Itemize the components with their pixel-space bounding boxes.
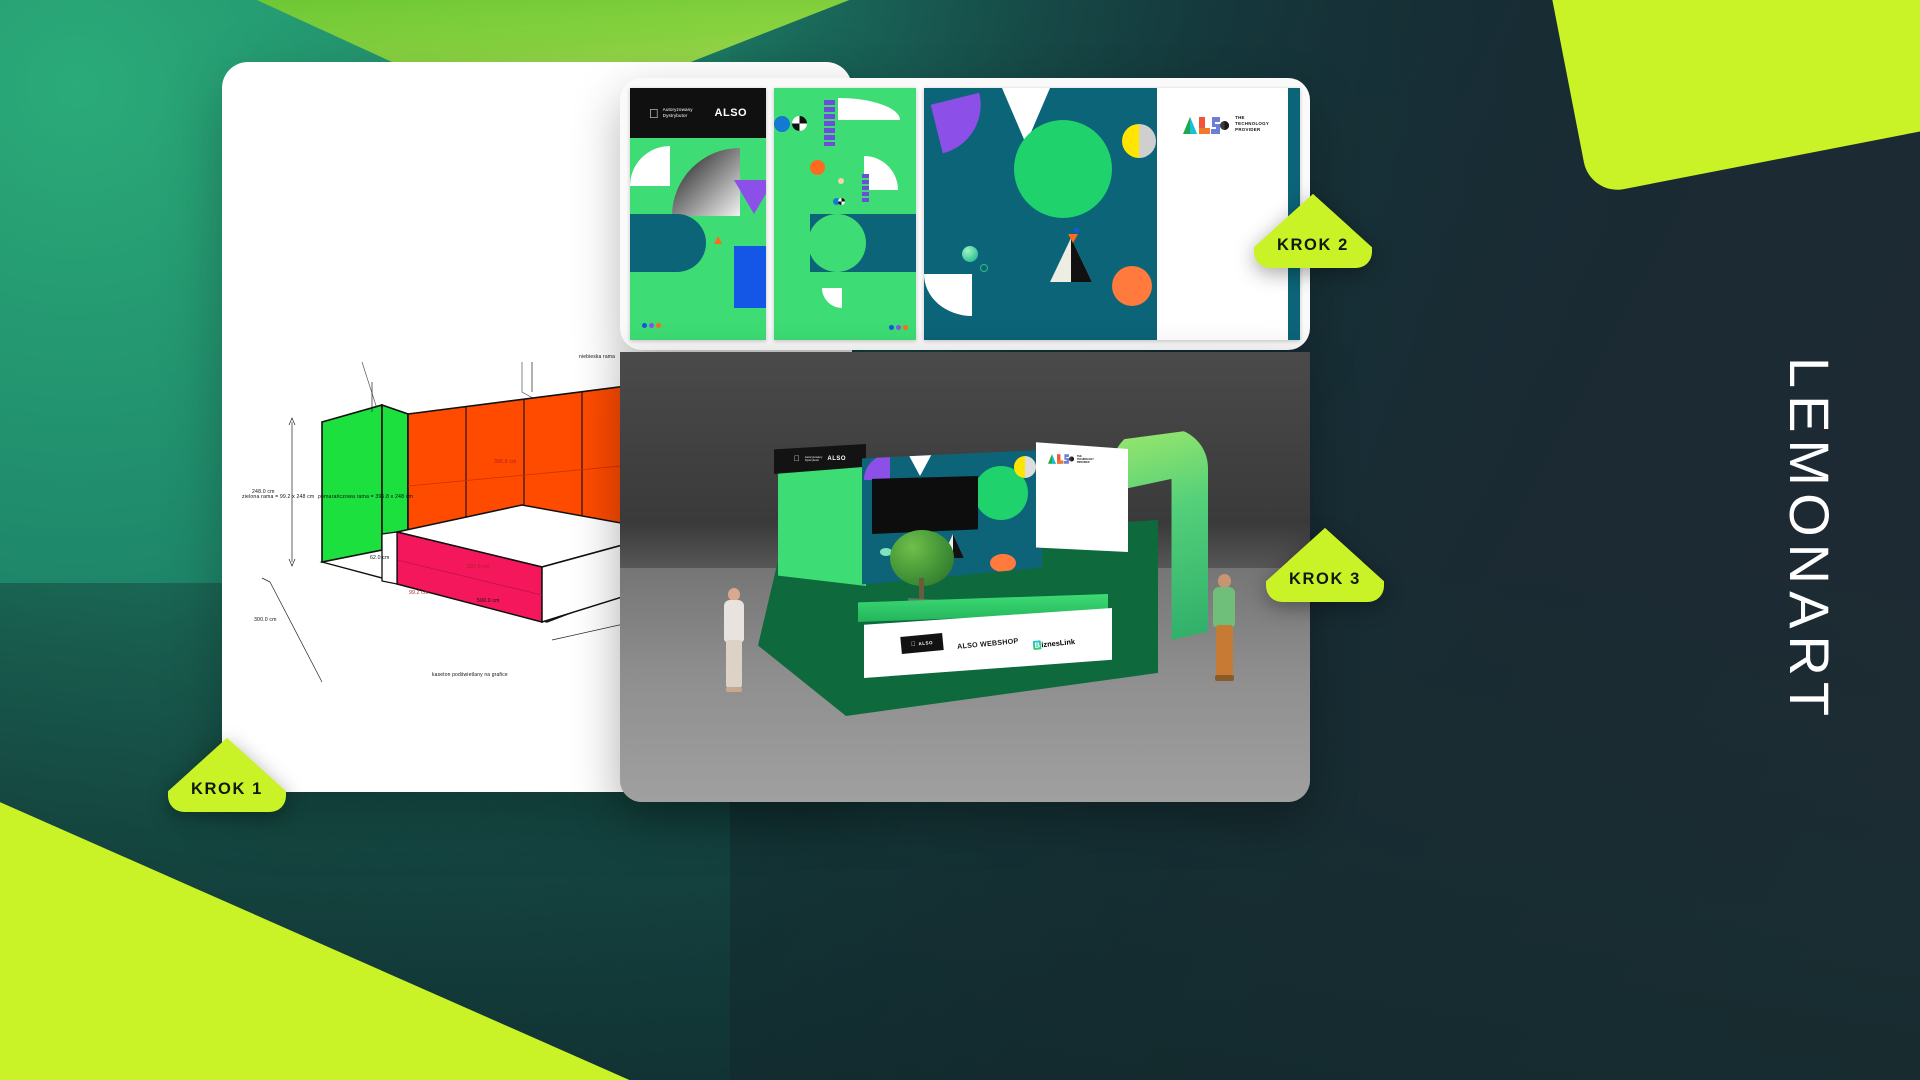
panel3-ring (980, 264, 988, 272)
panel3-purple-arc (931, 93, 992, 154)
panel3-teal-side (924, 88, 1157, 340)
panel1-white-quarter (630, 146, 670, 186)
exhibition-booth:  Autoryzowany Dystrybutor ALSO (740, 412, 1200, 732)
dimension-counter-height: 62.0 cm (370, 555, 390, 561)
person-right-feet (1215, 675, 1234, 681)
booth-also-logo: ALSO (827, 456, 846, 462)
panel2-purple-bars (824, 100, 835, 146)
badge-krok-3[interactable]: KROK 3 (1266, 528, 1384, 602)
booth-apple-text: Autoryzowany Dystrybutor (805, 456, 823, 463)
booth-wall-tagline: THE TECHNOLOGY PROVIDER (1077, 455, 1094, 464)
panel3-tagline-line2: TECHNOLOGY (1235, 121, 1269, 126)
panel1-apple-block:  Autoryzowany Dystrybutor (649, 107, 693, 120)
panel2-pinwheel (792, 116, 807, 131)
panel3-green-circle (1014, 120, 1112, 218)
panel1-dot-group (642, 323, 661, 328)
panel3-tiny-blue-dot (1074, 228, 1079, 233)
panel1-apple-text: Autoryzowany Dystrybutor (663, 107, 693, 119)
brand-part-b: ART (1778, 591, 1841, 723)
apple-icon:  (649, 107, 659, 120)
annotation-counter-note: kaseton podświetlany na grafice (432, 672, 508, 678)
brand-lemonart: LEMONART (1777, 357, 1842, 723)
panel2-white-quarter-bottom (822, 288, 842, 308)
also-logo-icon (1048, 454, 1074, 464)
render-3d-card:  Autoryzowany Dystrybutor ALSO (620, 352, 1310, 802)
annotation-orange-frame: pomarańczowa rama = 396.8 x 248 cm (318, 494, 413, 500)
panel3-tagline-line3: PROVIDER (1235, 127, 1260, 132)
person-right-head (1218, 574, 1231, 588)
panel2-purple-bars-2 (862, 174, 869, 202)
person-right-torso (1213, 587, 1235, 627)
panel1-gradient-quarter (672, 148, 740, 216)
booth-white-logo-wall: THE TECHNOLOGY PROVIDER (1036, 440, 1128, 552)
person-right (1208, 574, 1242, 692)
panel1-also-logo: ALSO (715, 107, 748, 119)
person-left-legs (726, 640, 742, 688)
apple-icon:  (794, 455, 800, 463)
panel1-apple-line2: Dystrybutor (663, 113, 688, 118)
graphic-panel-2 (774, 88, 916, 340)
booth-wall-tagline-3: PROVIDER (1077, 461, 1090, 464)
dimension-wall-height: 248.0 cm (252, 489, 275, 495)
dimension-counter-side: 99.2 cm (409, 590, 429, 596)
panel1-apple-line1: Autoryzowany (663, 107, 693, 112)
booth-apple-line2: Dystrybutor (805, 459, 819, 462)
panel3-orange-tri (1068, 234, 1078, 243)
dimension-counter-length: 297.6 cm (467, 564, 490, 570)
booth-white-triangle (906, 450, 934, 476)
dimension-booth-width: 500.0 cm (477, 598, 500, 604)
also-logo-icon (1183, 114, 1229, 134)
booth-orange-ellipse (990, 554, 1016, 572)
booth-wall-logo-row: THE TECHNOLOGY PROVIDER (1048, 454, 1094, 464)
bizneslink-logo: BiznesLink (1032, 637, 1075, 650)
panel2-blue-circle (774, 116, 790, 132)
graphic-panel-1:  Autoryzowany Dystrybutor ALSO (630, 88, 766, 340)
person-left-torso (724, 600, 744, 642)
apple-icon:  (911, 641, 916, 647)
panel3-black-cone-shadow (1071, 238, 1092, 282)
booth-yellow-circle (1014, 456, 1036, 478)
panel3-gradient-sphere (962, 246, 978, 262)
panel1-header:  Autoryzowany Dystrybutor ALSO (630, 88, 766, 138)
badge-krok-1-label: KROK 1 (191, 780, 263, 812)
brand-part-a: LEMON (1778, 357, 1841, 591)
booth-purple-arc (864, 454, 890, 480)
badge-krok-1[interactable]: KROK 1 (168, 738, 286, 812)
booth-led-screen (872, 476, 978, 534)
booth-cone-black (953, 534, 964, 558)
counter-also-logo: ALSO (918, 639, 933, 645)
booth-left-green-wall (778, 456, 866, 586)
panel3-orange-circle (1112, 266, 1152, 306)
graphic-panel-3: THE TECHNOLOGY PROVIDER (924, 88, 1300, 340)
annotation-blue-frame: niebieska rama (579, 354, 615, 360)
dimension-orange-width: 396.8 cm (494, 459, 517, 465)
panel2-orange-circle (810, 160, 825, 175)
graphics-panels-card:  Autoryzowany Dystrybutor ALSO (620, 78, 1310, 350)
person-left (718, 588, 752, 698)
badge-krok-2[interactable]: KROK 2 (1254, 194, 1372, 268)
panel3-white-arc-bottom (924, 274, 972, 316)
panel1-blue-square (734, 246, 766, 308)
panel3-tagline: THE TECHNOLOGY PROVIDER (1235, 115, 1269, 132)
panel1-orange-triangle (714, 236, 722, 244)
person-left-feet (726, 687, 742, 692)
panel1-purple-triangle (734, 180, 766, 214)
panel3-tagline-line1: THE (1235, 115, 1245, 120)
panel2-white-arc-top (838, 98, 900, 120)
counter-webshop-label: ALSO WEBSHOP (957, 636, 1019, 651)
also-logo-svg (1183, 117, 1229, 134)
panel2-dot-group (889, 325, 908, 330)
panel3-yellow-circle (1122, 124, 1156, 158)
panel2-green-circle (808, 214, 866, 272)
badge-krok-3-label: KROK 3 (1289, 570, 1361, 602)
badge-krok-2-label: KROK 2 (1277, 236, 1349, 268)
dimension-booth-depth: 300.0 cm (254, 617, 277, 623)
counter-apple-badge:  ALSO (901, 633, 944, 654)
bizneslink-rest: iznesLink (1041, 637, 1075, 649)
panel1-teal-halfpill (630, 214, 706, 272)
panel2-white-quarter (864, 156, 898, 190)
panel2-small-peach-circle (838, 178, 844, 184)
person-right-legs (1216, 625, 1233, 677)
panel2-tiny-pinwheel (838, 198, 845, 205)
panel3-logo-row: THE TECHNOLOGY PROVIDER (1183, 114, 1269, 134)
